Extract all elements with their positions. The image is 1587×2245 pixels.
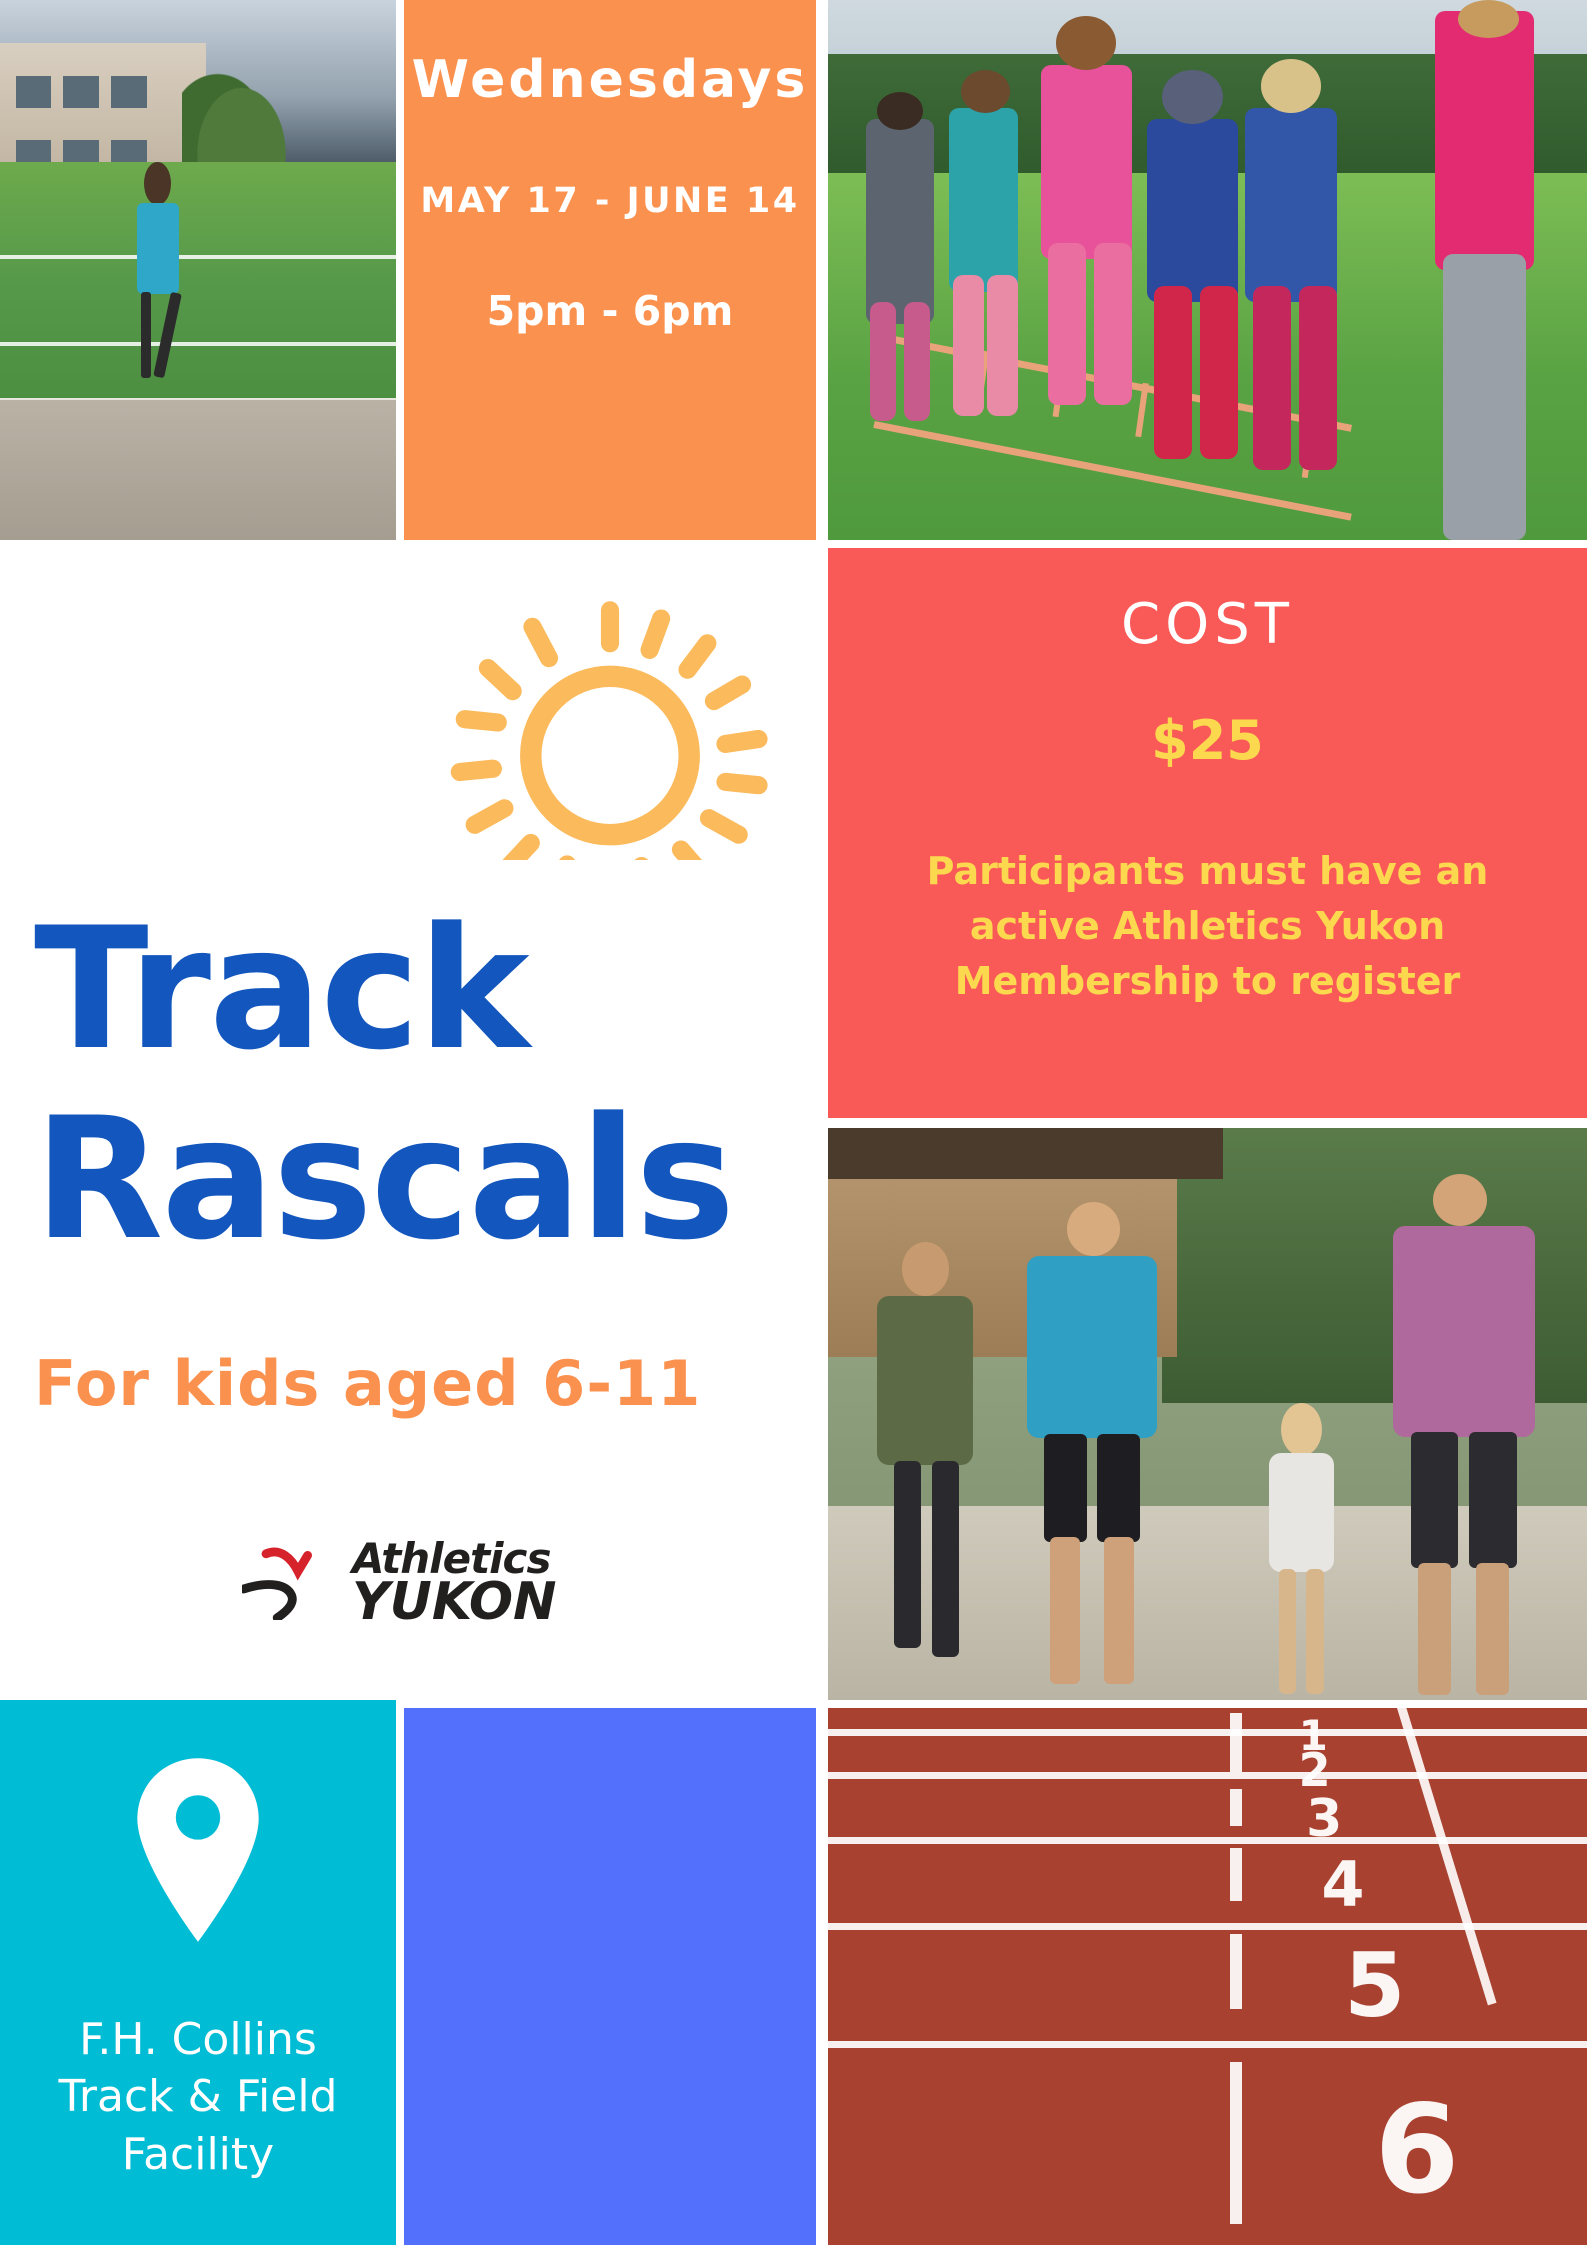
photo-track-edge — [0, 400, 396, 540]
title-panel: Track Rascals For kids aged 6-11 Athleti… — [0, 860, 816, 1700]
page-title: Track Rascals — [34, 910, 816, 1259]
lane-number: 4 — [1321, 1848, 1364, 1921]
poster-canvas: Wednesdays MAY 17 - JUNE 14 5pm - 6pm — [0, 0, 1587, 2245]
photo-running-track-lanes: 1 2 3 4 5 6 — [828, 1708, 1587, 2245]
lane-number: 6 — [1374, 2079, 1459, 2221]
photo-running-child — [127, 162, 190, 378]
location-line-1: F.H. Collins — [59, 2011, 338, 2068]
photo-runner-1 — [858, 1242, 995, 1688]
location-panel: F.H. Collins Track & Field Facility — [0, 1700, 396, 2245]
athletics-yukon-logo: Athletics YUKON — [242, 1540, 816, 1626]
cost-note: Participants must have an active Athleti… — [858, 844, 1558, 1009]
location-name: F.H. Collins Track & Field Facility — [59, 2011, 338, 2183]
cost-amount: $25 — [1151, 709, 1264, 772]
age-subtitle: For kids aged 6-11 — [34, 1347, 816, 1420]
photo-runner-3 — [1374, 1174, 1556, 1700]
schedule-time: 5pm - 6pm — [487, 287, 734, 335]
photo-runner-2 — [1010, 1202, 1177, 1694]
schedule-dates: MAY 17 - JUNE 14 — [420, 181, 799, 221]
cost-panel: COST $25 Participants must have an activ… — [828, 548, 1587, 1118]
location-line-3: Facility — [59, 2126, 338, 2183]
photo-child-runner — [1253, 1403, 1352, 1700]
lane-number: 3 — [1306, 1789, 1342, 1849]
photo-track-surface — [828, 1708, 1587, 2245]
photo-kids-agility-ladder — [828, 0, 1587, 540]
location-line-2: Track & Field — [59, 2068, 338, 2125]
schedule-panel: Wednesdays MAY 17 - JUNE 14 5pm - 6pm — [404, 0, 816, 540]
logo-text-yukon: YUKON — [352, 1579, 557, 1627]
schedule-day: Wednesdays — [412, 52, 809, 109]
accent-color-block — [404, 1708, 816, 2245]
cost-heading: COST — [1121, 592, 1294, 657]
running-figure-icon — [242, 1542, 338, 1625]
lane-number: 5 — [1344, 1934, 1405, 2037]
photo-turf-field — [0, 162, 396, 400]
title-line-1: Track — [34, 910, 816, 1070]
title-line-2: Rascals — [34, 1100, 816, 1260]
photo-child-on-field — [0, 0, 396, 540]
photo-women-and-child-running — [828, 1128, 1587, 1700]
map-pin-icon — [124, 1752, 272, 1953]
